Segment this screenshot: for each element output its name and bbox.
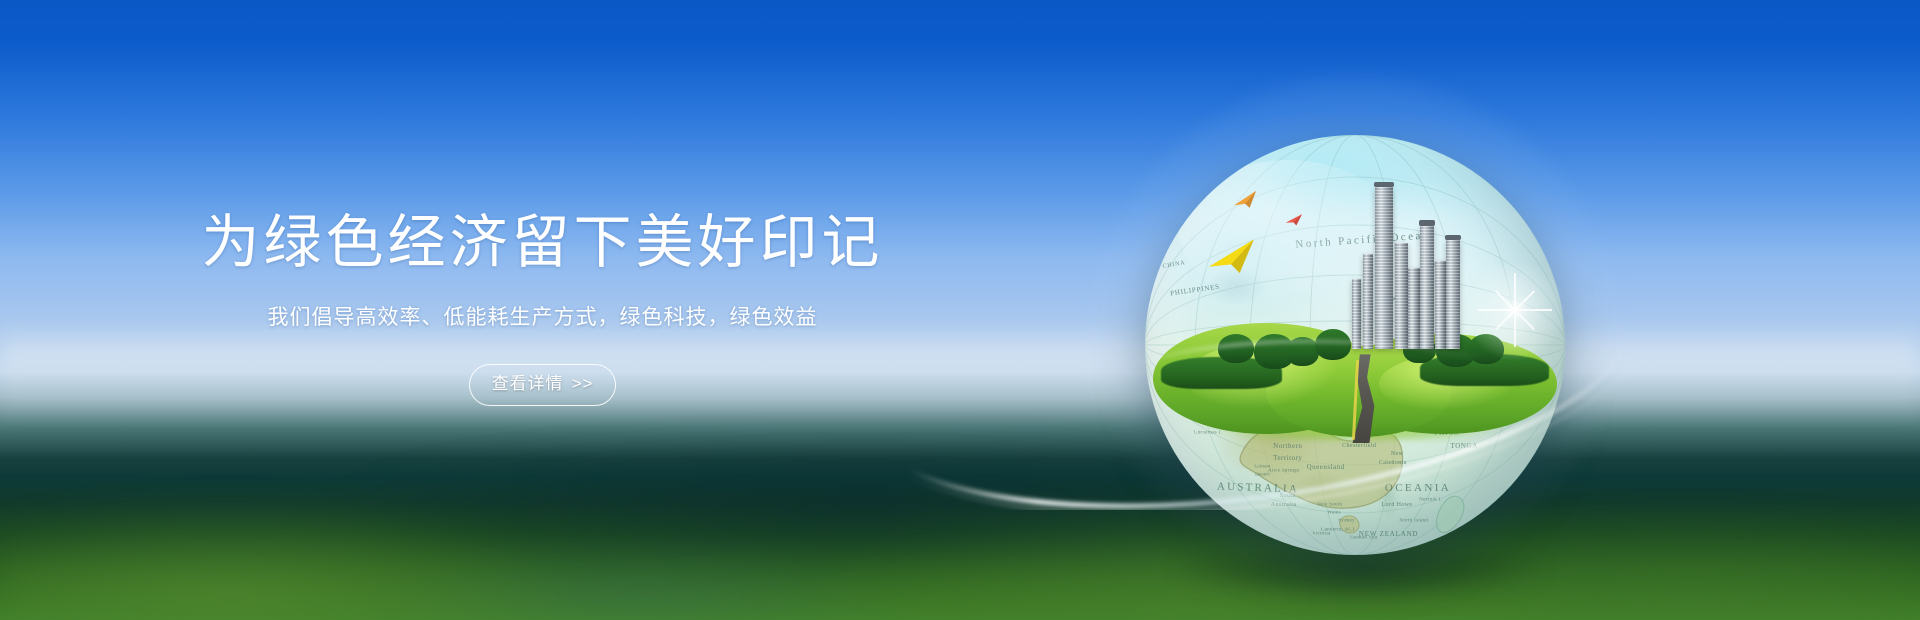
paper-plane-red	[1284, 212, 1304, 226]
banner-headline: 为绿色经济留下美好印记	[0, 210, 1085, 277]
globe-graphic: North Pacific OceanMidwayWake IslandPHIL…	[1145, 135, 1565, 555]
banner-subheadline: 我们倡导高效率、低能耗生产方式，绿色科技，绿色效益	[0, 303, 1085, 332]
globe-sphere: North Pacific OceanMidwayWake IslandPHIL…	[1145, 135, 1565, 555]
view-details-button[interactable]: 查看详情>>	[469, 364, 617, 406]
paper-plane-group	[1145, 135, 1565, 555]
cta-arrow-icon: >>	[572, 374, 594, 393]
hero-banner: North Pacific OceanMidwayWake IslandPHIL…	[0, 0, 1920, 620]
paper-plane-orange	[1231, 190, 1260, 213]
paper-plane-yellow	[1204, 237, 1262, 281]
banner-copy: 为绿色经济留下美好印记 我们倡导高效率、低能耗生产方式，绿色科技，绿色效益 查看…	[0, 210, 1085, 406]
cta-container: 查看详情>>	[0, 364, 1085, 406]
cta-label: 查看详情	[492, 374, 564, 393]
